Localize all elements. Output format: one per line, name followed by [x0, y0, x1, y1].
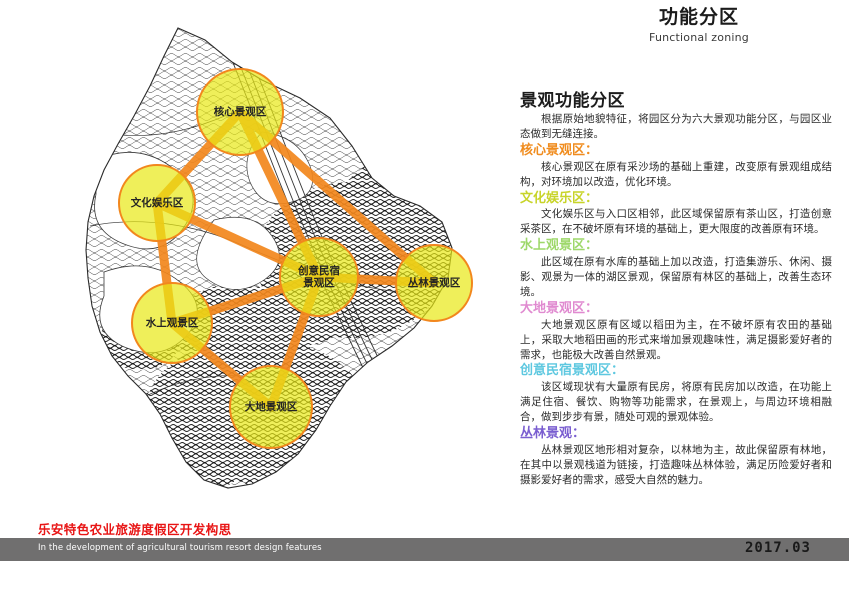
zone-heading-0: 核心景观区：: [520, 143, 832, 160]
zone-heading-5: 丛林景观：: [520, 426, 832, 443]
zone-node-label: 大地景观区: [245, 401, 298, 413]
zone-node-water[interactable]: 水上观景区: [131, 282, 213, 364]
intro-paragraph: 根据原始地貌特征，将园区分为六大景观功能分区，与园区业态做到无缝连接。: [520, 112, 832, 142]
zone-node-label: 创意民宿景观区: [298, 265, 340, 289]
zone-heading-3: 大地景观区：: [520, 301, 832, 318]
zone-node-earth[interactable]: 大地景观区: [229, 365, 313, 449]
zone-heading-1: 文化娱乐区：: [520, 191, 832, 208]
zoning-map: 核心景观区文化娱乐区水上观景区创意民宿景观区丛林景观区大地景观区: [0, 10, 510, 510]
section-title: 景观功能分区: [520, 86, 832, 111]
zone-heading-2: 水上观景区：: [520, 238, 832, 255]
footer-date: 2017.03: [745, 540, 811, 556]
zone-heading-4: 创意民宿景观区：: [520, 363, 832, 380]
footer-title-en: In the development of agricultural touri…: [38, 543, 322, 553]
zone-node-label: 丛林景观区: [408, 277, 461, 289]
zone-node-jungle[interactable]: 丛林景观区: [395, 244, 473, 322]
footer-title-cn: 乐安特色农业旅游度假区开发构思: [38, 519, 232, 538]
zone-description-list: 核心景观区：核心景观区在原有采沙场的基础上重建，改变原有景观组成结构，对环境加以…: [520, 143, 832, 488]
zone-node-core[interactable]: 核心景观区: [196, 68, 284, 156]
zone-body-4: 该区域现状有大量原有民房，将原有民房加以改造，在功能上满足住宿、餐饮、购物等功能…: [520, 380, 832, 425]
page-title-cn: 功能分区: [584, 6, 814, 30]
zone-body-2: 此区域在原有水库的基础上加以改造，打造集游乐、休闲、摄影、观景为一体的湖区景观，…: [520, 255, 832, 300]
zone-node-culture[interactable]: 文化娱乐区: [118, 164, 196, 242]
zone-body-5: 丛林景观区地形相对复杂，以林地为主，故此保留原有林地，在其中以景观栈道为链接，打…: [520, 443, 832, 488]
zone-node-label: 文化娱乐区: [131, 197, 184, 209]
slide-header: 功能分区 Functional zoning: [584, 6, 814, 44]
zone-node-label: 水上观景区: [146, 317, 199, 329]
page-title-en: Functional zoning: [584, 31, 814, 44]
zone-body-1: 文化娱乐区与入口区相邻，此区域保留原有茶山区，打造创意采茶区，在不破坏原有环境的…: [520, 207, 832, 237]
zone-node-label: 核心景观区: [214, 106, 267, 118]
zone-node-homestay[interactable]: 创意民宿景观区: [279, 237, 359, 317]
description-panel: 景观功能分区 根据原始地貌特征，将园区分为六大景观功能分区，与园区业态做到无缝连…: [520, 86, 832, 489]
presentation-slide: 功能分区 Functional zoning: [0, 0, 849, 600]
zone-body-3: 大地景观区原有区域以稻田为主，在不破坏原有农田的基础上，采取大地稻田画的形式来增…: [520, 318, 832, 363]
zone-body-0: 核心景观区在原有采沙场的基础上重建，改变原有景观组成结构，对环境加以改造，优化环…: [520, 160, 832, 190]
